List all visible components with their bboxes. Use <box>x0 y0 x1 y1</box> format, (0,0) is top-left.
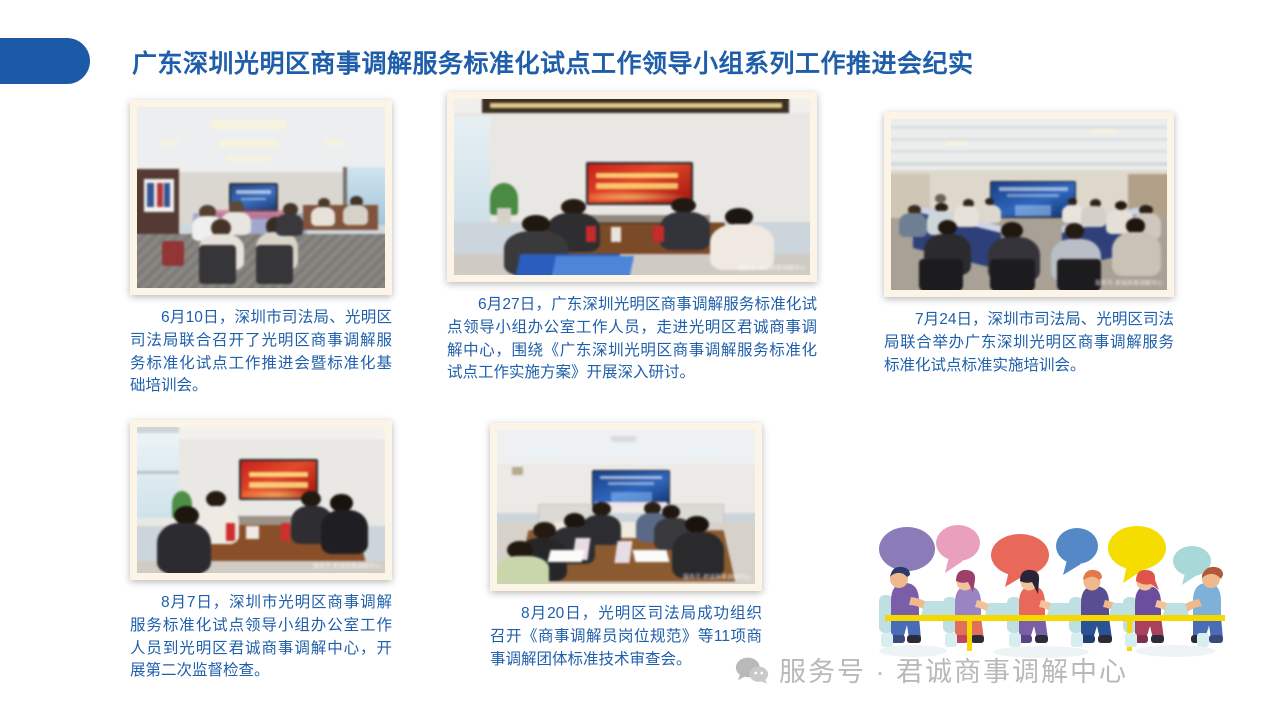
photo-image-3: 服务号·君诚商事调解中心 <box>891 119 1167 290</box>
watermark-text: 服务号 · 君诚商事调解中心 <box>779 650 1128 689</box>
photo-caption-1: 6月10日，深圳市司法局、光明区司法局联合召开了光明区商事调解服务标准化试点工作… <box>130 307 392 398</box>
photo-frame-5: 服务号·君诚商事调解中心 <box>490 423 762 591</box>
person-1 <box>890 567 929 643</box>
speech-bubble-pink <box>936 525 980 573</box>
photo-card-4: 服务号·君诚商事调解中心 8月7日，深圳市光明区商事调解服务标准化试点领导小组办… <box>130 420 392 683</box>
wechat-icon <box>735 656 769 684</box>
photo-card-2: 服务号·君诚商事调解中心 6月27日，广东深圳光明区商事调解服务标准化试点领导小… <box>447 92 817 385</box>
page-title: 广东深圳光明区商事调解服务标准化试点工作领导小组系列工作推进会纪实 <box>132 44 974 80</box>
photo-image-4: 服务号·君诚商事调解中心 <box>137 427 385 573</box>
channel-watermark: 服务号 · 君诚商事调解中心 <box>735 650 1128 689</box>
speech-bubble-yellow <box>1108 526 1166 583</box>
photo-card-5: 服务号·君诚商事调解中心 8月20日，光明区司法局成功组织召开《商事调解员岗位规… <box>490 423 762 671</box>
photo-image-1 <box>137 107 385 288</box>
photo-caption-3: 7月24日，深圳市司法局、光明区司法局联合举办广东深圳光明区商事调解服务标准化试… <box>884 309 1174 377</box>
photo-image-2: 服务号·君诚商事调解中心 <box>454 99 810 275</box>
table-leg-left <box>967 617 972 651</box>
photo-frame-3: 服务号·君诚商事调解中心 <box>884 112 1174 297</box>
speech-bubble-coral <box>991 534 1049 587</box>
photo-caption-2: 6月27日，广东深圳光明区商事调解服务标准化试点领导小组办公室工作人员，走进光明… <box>447 294 817 385</box>
photo-frame-1 <box>130 100 392 295</box>
photo-image-5: 服务号·君诚商事调解中心 <box>497 430 755 584</box>
speech-bubble-blue <box>1056 528 1098 575</box>
photo-frame-2: 服务号·君诚商事调解中心 <box>447 92 817 282</box>
photo-frame-4: 服务号·君诚商事调解中心 <box>130 420 392 580</box>
photo-caption-4: 8月7日，深圳市光明区商事调解服务标准化试点领导小组办公室工作人员到光明区君诚商… <box>130 592 392 683</box>
table-top <box>885 615 1225 621</box>
photo-caption-5: 8月20日，光明区司法局成功组织召开《商事调解员岗位规范》等11项商事调解团体标… <box>490 603 762 671</box>
photo-card-3: 服务号·君诚商事调解中心 7月24日，深圳市司法局、光明区司法局联合举办广东深圳… <box>884 112 1174 377</box>
slide-canvas: 广东深圳光明区商事调解服务标准化试点工作领导小组系列工作推进会纪实 <box>0 0 1264 716</box>
discussion-illustration <box>855 505 1255 665</box>
header-accent-pill <box>0 38 90 84</box>
photo-card-1: 6月10日，深圳市司法局、光明区司法局联合召开了光明区商事调解服务标准化试点工作… <box>130 100 392 398</box>
